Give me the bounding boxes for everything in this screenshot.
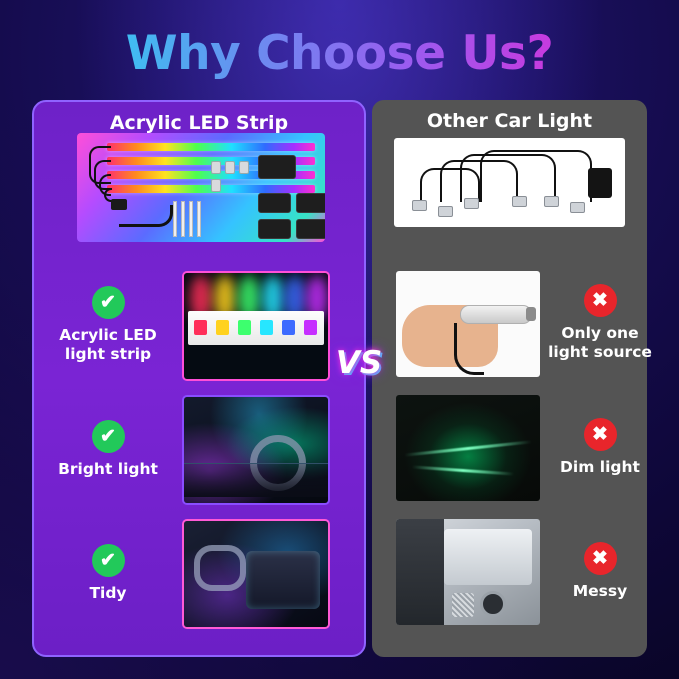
product-hero-contents <box>81 137 321 238</box>
left-feature-3-photo <box>182 519 330 629</box>
left-feature-3-caption: ✔ Tidy <box>52 544 164 603</box>
clip-graphic <box>239 161 249 174</box>
center-console-graphic <box>246 551 320 609</box>
check-icon: ✔ <box>92 420 125 453</box>
controller-box-graphic <box>258 219 291 239</box>
cable-graphic <box>454 323 484 375</box>
dashboard-graphic <box>182 463 330 497</box>
light-device-graphic <box>460 305 532 324</box>
led-strip-graphic <box>107 143 315 151</box>
right-feature-row-3: ✖ Messy <box>372 514 647 634</box>
car-console-tidy-photo <box>184 521 328 627</box>
right-feature-3-caption: ✖ Messy <box>544 542 656 601</box>
left-feature-1-photo <box>182 271 330 381</box>
cross-icon: ✖ <box>584 542 617 575</box>
led-dot <box>216 320 229 335</box>
accessory-strip-graphic <box>173 201 177 237</box>
control-knob-graphic <box>480 591 506 617</box>
left-feature-1-caption: ✔ Acrylic LED light strip <box>52 286 164 364</box>
led-dot <box>238 320 251 335</box>
cross-icon: ✖ <box>584 284 617 317</box>
left-panel-heading: Acrylic LED Strip <box>34 112 364 134</box>
right-feature-row-1: ✖ Only one light source <box>372 266 647 386</box>
led-strip-photo <box>184 273 328 379</box>
dim-light-line <box>412 465 514 475</box>
panel-acrylic-led-strip: Acrylic LED Strip <box>32 100 366 657</box>
connector-graphic <box>464 198 479 209</box>
right-feature-1-label: Only one light source <box>544 324 656 362</box>
right-feature-row-2: ✖ Dim light <box>372 390 647 510</box>
connector-graphic <box>544 196 559 207</box>
dim-light-line <box>404 440 532 456</box>
led-dot <box>194 320 207 335</box>
control-module-graphic <box>588 168 612 198</box>
hand-holding-light-photo <box>396 271 540 377</box>
controller-box-graphic <box>296 193 325 213</box>
product-hero-image <box>77 133 325 242</box>
controller-box-graphic <box>258 193 291 213</box>
vs-badge: VS <box>336 340 382 386</box>
left-feature-3-label: Tidy <box>52 584 164 603</box>
steering-wheel-graphic <box>194 545 246 591</box>
left-feature-2-photo <box>182 395 330 505</box>
clip-graphic <box>211 179 221 192</box>
right-feature-1-photo <box>394 269 542 379</box>
usb-cable-graphic <box>119 205 173 227</box>
left-feature-2-caption: ✔ Bright light <box>52 420 164 479</box>
accessory-strip-graphic <box>181 201 185 237</box>
clip-graphic <box>225 161 235 174</box>
accessory-strip-graphic <box>197 201 201 237</box>
right-feature-2-caption: ✖ Dim light <box>544 418 656 477</box>
check-icon: ✔ <box>92 286 125 319</box>
seat-graphic <box>396 519 444 627</box>
connector-graphic <box>438 206 453 217</box>
panel-other-car-light: Other Car Light <box>372 100 647 657</box>
right-panel-heading: Other Car Light <box>372 110 647 132</box>
speaker-mesh-graphic <box>452 593 474 617</box>
right-feature-2-label: Dim light <box>544 458 656 477</box>
left-feature-2-label: Bright light <box>52 460 164 479</box>
led-dot <box>282 320 295 335</box>
cable-graphic <box>480 150 592 202</box>
messy-console-photo <box>396 519 540 625</box>
check-icon: ✔ <box>92 544 125 577</box>
other-product-hero-image <box>394 138 625 227</box>
left-feature-1-label: Acrylic LED light strip <box>52 326 164 364</box>
connector-graphic <box>570 202 585 213</box>
led-dot <box>260 320 273 335</box>
right-feature-1-caption: ✖ Only one light source <box>544 284 656 362</box>
left-feature-row-2: ✔ Bright light <box>34 392 368 512</box>
right-feature-2-photo <box>394 393 542 503</box>
left-feature-row-1: ✔ Acrylic LED light strip <box>34 268 368 388</box>
dim-green-interior-photo <box>396 395 540 501</box>
cross-icon: ✖ <box>584 418 617 451</box>
left-feature-row-3: ✔ Tidy <box>34 516 368 636</box>
led-dot <box>304 320 317 335</box>
infographic-frame: Why Choose Us? Acrylic LED Strip <box>0 0 679 679</box>
car-interior-bright-photo <box>184 397 328 503</box>
right-feature-3-label: Messy <box>544 582 656 601</box>
clip-graphic <box>211 161 221 174</box>
controller-box-graphic <box>296 219 325 239</box>
connector-graphic <box>512 196 527 207</box>
right-feature-3-photo <box>394 517 542 627</box>
light-tip-graphic <box>526 307 536 321</box>
controller-box-graphic <box>258 155 296 179</box>
connector-graphic <box>412 200 427 211</box>
page-title: Why Choose Us? <box>0 26 679 81</box>
console-panel-graphic <box>444 529 532 585</box>
led-pcb <box>188 311 324 345</box>
accessory-strip-graphic <box>189 201 193 237</box>
